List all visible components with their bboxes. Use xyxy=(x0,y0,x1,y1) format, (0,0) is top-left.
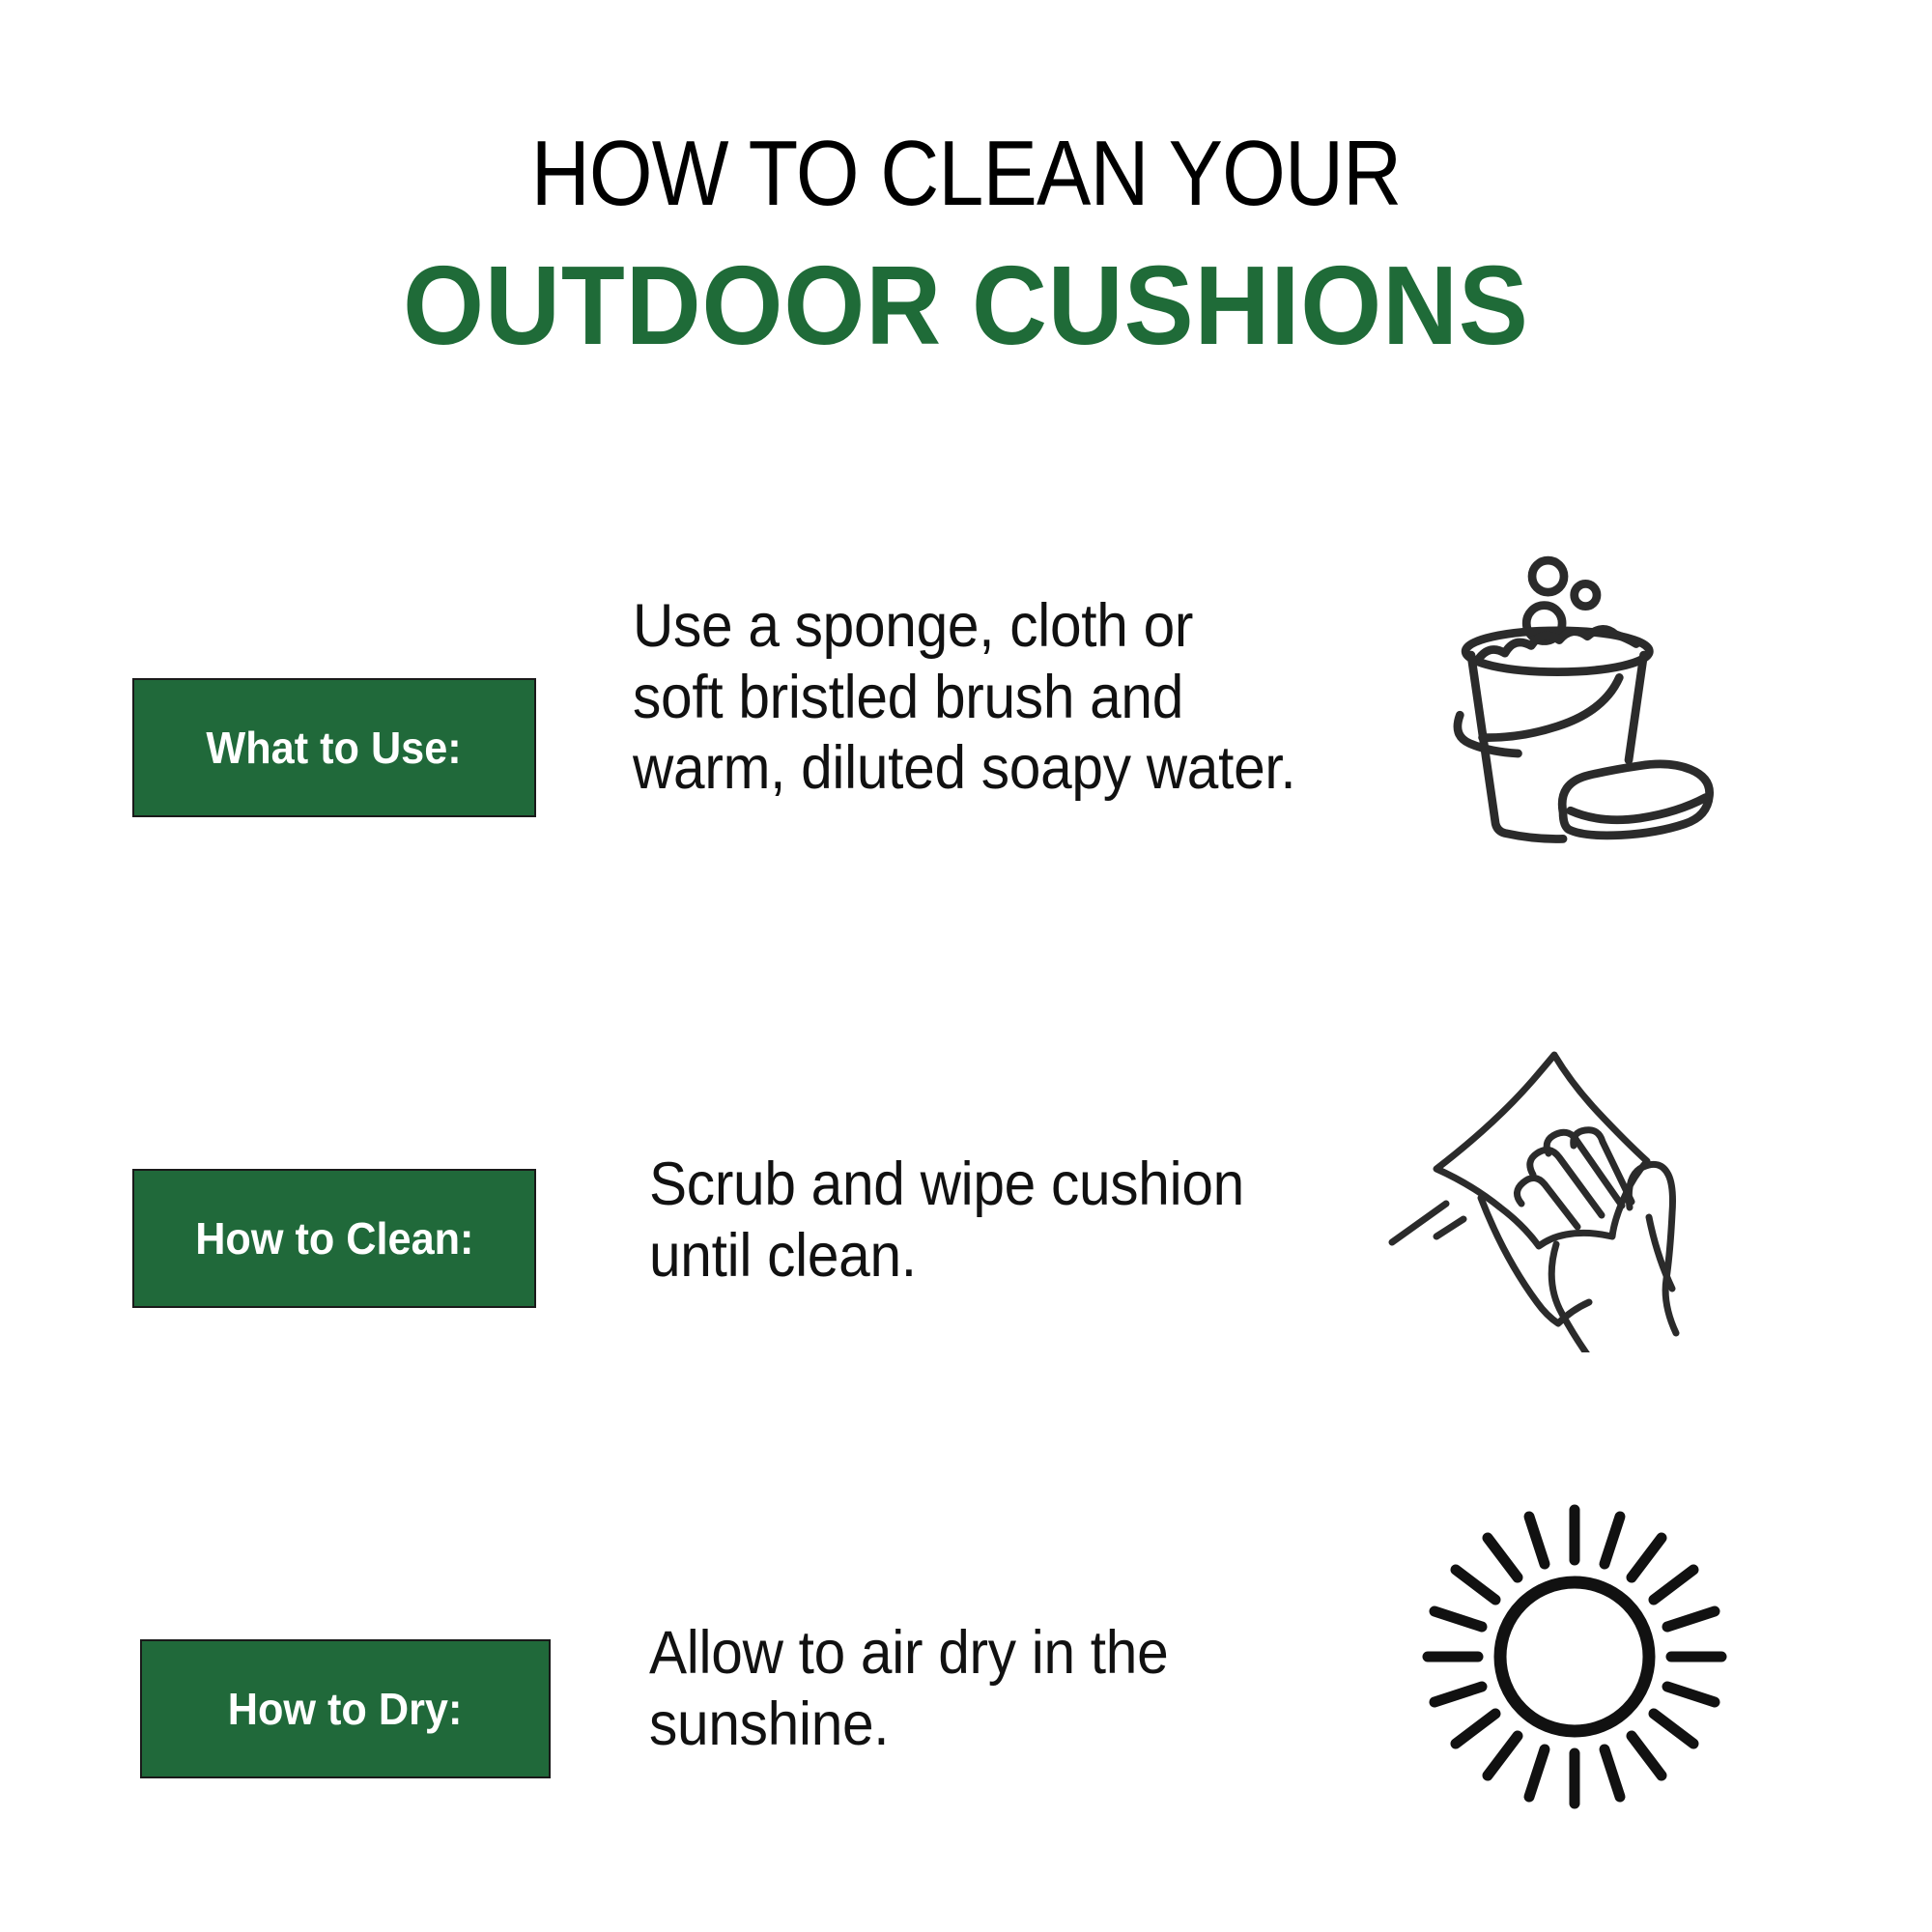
hand-wiping-cloth-icon xyxy=(1377,1043,1744,1352)
step-badge-label: How to Dry: xyxy=(228,1683,463,1735)
bucket-with-sponge-icon xyxy=(1406,531,1724,850)
step-row-what-to-use: What to Use: Use a sponge, cloth or soft… xyxy=(0,541,1932,889)
page-header: HOW TO CLEAN YOUR OUTDOOR CUSHIONS xyxy=(0,128,1932,361)
step-badge-label: How to Clean: xyxy=(195,1212,473,1264)
step-badge-label: What to Use: xyxy=(207,722,462,774)
step-row-how-to-dry: How to Dry: Allow to air dry in the suns… xyxy=(0,1473,1932,1821)
step-description-how-to-dry: Allow to air dry in the sunshine. xyxy=(649,1618,1332,1760)
page-title-line2: OUTDOOR CUSHIONS xyxy=(68,249,1864,361)
step-badge-what-to-use: What to Use: xyxy=(132,678,536,817)
page-title-line1: HOW TO CLEAN YOUR xyxy=(116,128,1816,220)
step-badge-how-to-clean: How to Clean: xyxy=(132,1169,536,1308)
step-description-what-to-use: Use a sponge, cloth or soft bristled bru… xyxy=(633,591,1378,805)
infographic-page: HOW TO CLEAN YOUR OUTDOOR CUSHIONS What … xyxy=(0,0,1932,1932)
step-description-how-to-clean: Scrub and wipe cushion until clean. xyxy=(649,1150,1332,1292)
step-row-how-to-clean: How to Clean: Scrub and wipe cushion unt… xyxy=(0,1005,1932,1352)
sun-icon xyxy=(1401,1483,1748,1831)
step-badge-how-to-dry: How to Dry: xyxy=(140,1639,551,1778)
